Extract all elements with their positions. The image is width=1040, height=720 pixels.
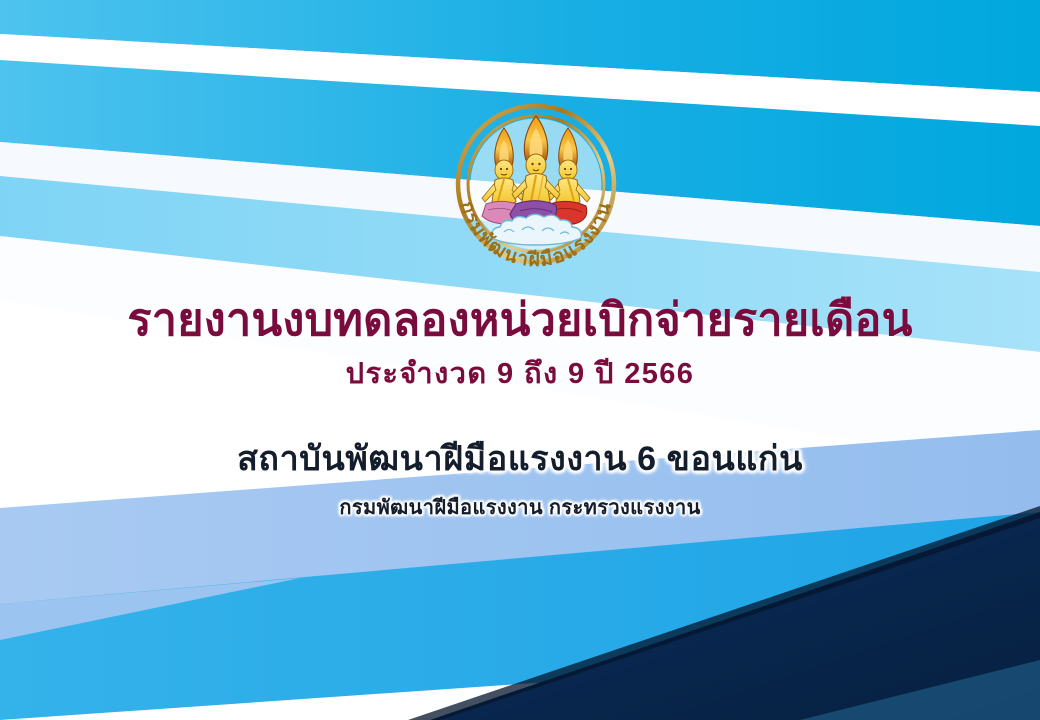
emblem-icon: กรมพัฒนาฝีมือแรงงาน <box>438 98 634 270</box>
organization-logo: กรมพัฒนาฝีมือแรงงาน <box>438 98 634 270</box>
page-title: รายงานงบทดลองหน่วยเบิกจ่ายรายเดือน <box>0 296 1040 345</box>
parent-organization: กรมพัฒนาฝีมือแรงงาน กระทรวงแรงงาน <box>0 496 1040 520</box>
report-cover-page: กรมพัฒนาฝีมือแรงงาน รายงานงบทดลองหน่วยเบ… <box>0 0 1040 720</box>
report-period: ประจำงวด 9 ถึง 9 ปี 2566 <box>0 359 1040 391</box>
organization-name: สถาบันพัฒนาฝีมือแรงงาน 6 ขอนแก่น <box>0 440 1040 479</box>
cover-text-block: รายงานงบทดลองหน่วยเบิกจ่ายรายเดือน ประจำ… <box>0 296 1040 520</box>
